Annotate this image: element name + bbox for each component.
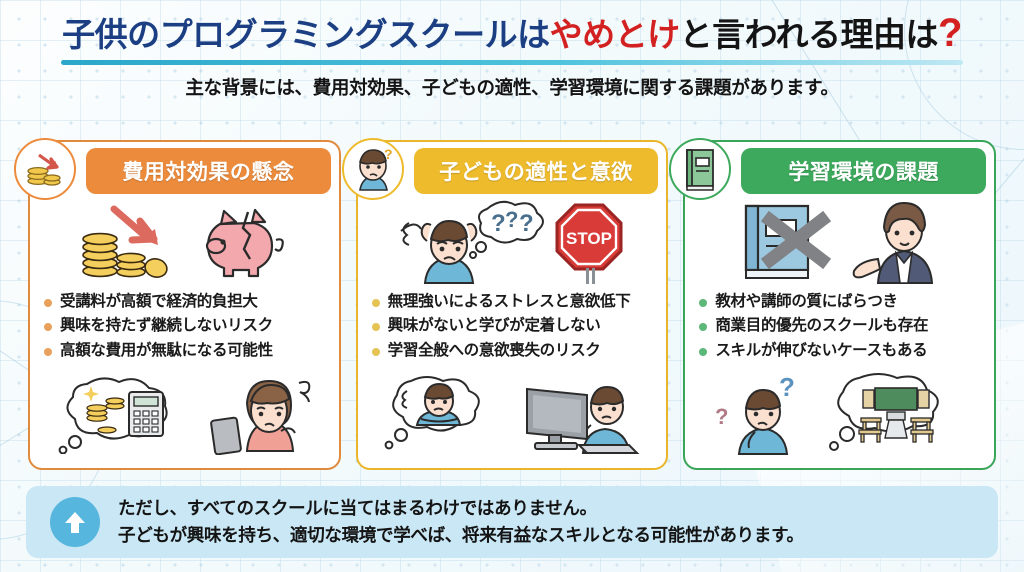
bullet-text: 受講料が高額で経済的負担大: [60, 290, 258, 314]
list-item: スキルが伸びないケースもある: [699, 339, 988, 363]
bullet-text: 学習全般への意欲喪失のリスク: [388, 339, 601, 363]
title-underline: [61, 60, 963, 65]
card-heading-environment: 学習環境の課題: [741, 148, 986, 194]
card-learning-environment[interactable]: 学習環境の課題: [683, 140, 996, 470]
footer-line-2: 子どもが興味を持ち、適切な環境で学べば、将来有益なスキルとなる可能性があります。: [118, 522, 804, 549]
cards-row: 費用対効果の懸念: [28, 140, 996, 470]
list-item: 商業目的優先のスクールも存在: [699, 314, 988, 338]
worried-woman-tablet-icon: [207, 373, 319, 455]
card-heading-cost: 費用対効果の懸念: [86, 148, 331, 194]
questioning-boy-icon: ? ?: [711, 372, 811, 456]
list-item: 学習全般への意欲喪失のリスク: [372, 339, 661, 363]
boy-at-computer-icon: [521, 373, 651, 455]
svg-text:?: ?: [519, 210, 534, 237]
list-item: 受講料が高額で経済的負担大: [44, 290, 333, 314]
list-item: 教材や講師の質にばらつき: [699, 290, 988, 314]
title-part-blue: 子供のプログラミングスクールは: [62, 16, 550, 53]
svg-text:?: ?: [715, 404, 728, 429]
bullet-text: 教材や講師の質にばらつき: [715, 290, 897, 314]
list-item: 興味がないと学びが定着しない: [372, 314, 661, 338]
book-with-x-icon: [730, 198, 834, 284]
bullet-text: 興味がないと学びが定着しない: [388, 314, 601, 338]
footer-text: ただし、すべてのスクールに当てはまるわけではありません。 子どもが興味を持ち、適…: [118, 495, 804, 549]
list-item: 興味を持たず継続しないリスク: [44, 314, 333, 338]
bullet-dot: [372, 299, 380, 307]
page-subtitle: 主な背景には、費用対効果、子どもの適性、学習環境に関する課題があります。: [0, 74, 1024, 100]
stop-sign-label: STOP: [566, 229, 612, 248]
title-question-mark: ?: [938, 11, 962, 55]
bullet-list-cost: 受講料が高額で経済的負担大 興味を持たず継続しないリスク 高額な費用が無駄になる…: [30, 288, 339, 363]
bullet-dot: [372, 323, 380, 331]
bullet-dot: [44, 299, 52, 307]
svg-text:?: ?: [505, 207, 518, 232]
coin-stack-icon: [74, 199, 184, 283]
bullet-dot: [699, 299, 707, 307]
list-item: 高額な費用が無駄になる可能性: [44, 339, 333, 363]
bullet-dot: [44, 323, 52, 331]
textbook-icon: [669, 138, 731, 200]
bullet-text: 無理強いによるストレスと意欲低下: [388, 290, 631, 314]
thought-bubble-sulking-boy-icon: [373, 373, 513, 455]
bullet-text: スキルが伸びないケースもある: [715, 339, 927, 363]
card-heading-aptitude: 子どもの適性と意欲: [414, 148, 659, 194]
frustrated-boy-question-marks-icon: ? ? ?: [395, 197, 545, 285]
illustration-environment-bottom: ? ?: [685, 363, 994, 468]
stop-sign-icon: STOP: [551, 197, 629, 285]
illustration-aptitude-bottom: [358, 363, 667, 468]
thought-bubble-coins-calculator-icon: [49, 374, 199, 454]
svg-text:?: ?: [491, 210, 506, 237]
bullet-text: 商業目的優先のスクールも存在: [715, 314, 928, 338]
bullet-list-aptitude: 無理強いによるストレスと意欲低下 興味がないと学びが定着しない 学習全般への意欲…: [358, 288, 667, 363]
bullet-list-environment: 教材や講師の質にばらつき 商業目的優先のスクールも存在 スキルが伸びないケースも…: [685, 288, 994, 363]
title-part-black: と言われる理由は: [680, 16, 938, 53]
illustration-aptitude-top: ? ? ? STOP: [358, 194, 667, 288]
title-part-red: やめとけ: [550, 16, 680, 53]
svg-text:?: ?: [384, 146, 393, 162]
footer-line-1: ただし、すべてのスクールに当てはまるわけではありません。: [118, 495, 804, 522]
svg-text:?: ?: [779, 372, 795, 402]
bullet-dot: [372, 348, 380, 356]
teacher-woman-icon: [840, 197, 950, 285]
illustration-environment-top: [685, 194, 994, 288]
thought-bubble-classroom-icon: [819, 372, 969, 456]
cracked-piggy-bank-icon: [190, 202, 294, 280]
bullet-text: 興味を持たず継続しないリスク: [60, 314, 273, 338]
bullet-dot: [699, 348, 707, 356]
bullet-text: 高額な費用が無駄になる可能性: [60, 339, 273, 363]
card-cost-effectiveness[interactable]: 費用対効果の懸念: [28, 140, 341, 470]
header: 子供のプログラミングスクールはやめとけと言われる理由は? 主な背景には、費用対効…: [0, 10, 1024, 100]
list-item: 無理強いによるストレスと意欲低下: [372, 290, 661, 314]
card-child-aptitude[interactable]: ? 子どもの適性と意欲: [356, 140, 669, 470]
page-title: 子供のプログラミングスクールはやめとけと言われる理由は?: [0, 10, 1024, 56]
bullet-dot: [699, 323, 707, 331]
coins-down-arrow-icon: [14, 138, 76, 200]
up-arrow-circle-icon: [50, 497, 100, 547]
infographic-canvas: 子供のプログラミングスクールはやめとけと言われる理由は? 主な背景には、費用対効…: [0, 0, 1024, 572]
puzzled-child-icon: ?: [342, 138, 404, 200]
footer-note: ただし、すべてのスクールに当てはまるわけではありません。 子どもが興味を持ち、適…: [26, 486, 998, 558]
illustration-cost-top: [30, 194, 339, 288]
illustration-cost-bottom: [30, 363, 339, 468]
bullet-dot: [44, 348, 52, 356]
